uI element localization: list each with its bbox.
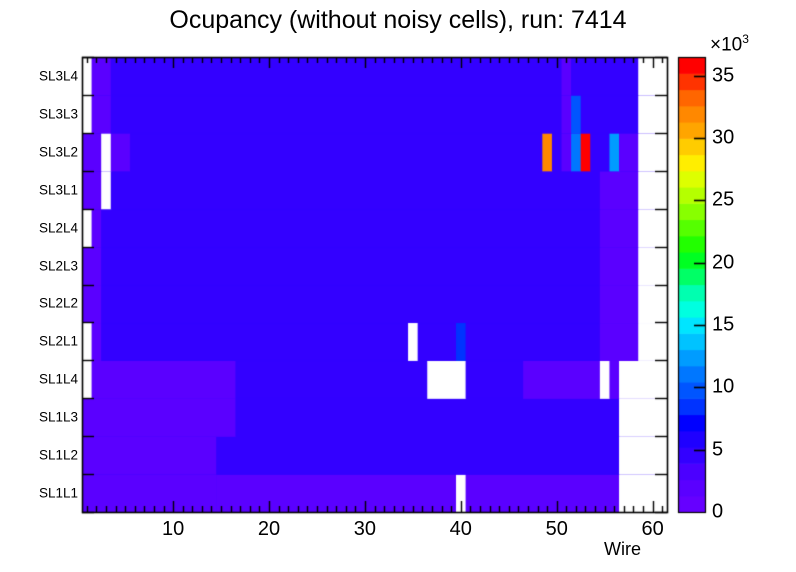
x-axis-tick-20: 20 xyxy=(258,518,280,541)
y-axis-label-sl1l4: SL1L4 xyxy=(20,372,78,387)
occupancy-heatmap xyxy=(0,0,796,572)
y-axis-label-sl1l1: SL1L1 xyxy=(20,486,78,501)
y-axis-label-sl3l3: SL3L3 xyxy=(20,106,78,121)
y-axis-label-sl3l1: SL3L1 xyxy=(20,182,78,197)
y-axis-label-sl1l3: SL1L3 xyxy=(20,410,78,425)
colorbar-multiplier-exponent: 3 xyxy=(742,32,749,46)
y-axis-label-sl2l3: SL2L3 xyxy=(20,258,78,273)
y-axis-labels: SL1L1SL1L2SL1L3SL1L4SL2L1SL2L2SL2L3SL2L4… xyxy=(14,0,78,572)
colorbar-tick-5: 5 xyxy=(712,438,723,461)
colorbar-multiplier: ×103 xyxy=(710,32,749,56)
y-axis-label-sl2l4: SL2L4 xyxy=(20,220,78,235)
y-axis-label-sl2l2: SL2L2 xyxy=(20,296,78,311)
x-axis-labels: 102030405060 xyxy=(0,518,796,544)
y-axis-label-sl3l4: SL3L4 xyxy=(20,68,78,83)
colorbar-tick-30: 30 xyxy=(712,127,734,150)
x-axis-tick-10: 10 xyxy=(162,518,184,541)
colorbar-tick-20: 20 xyxy=(712,251,734,274)
colorbar-tick-25: 25 xyxy=(712,189,734,212)
y-axis-label-sl3l2: SL3L2 xyxy=(20,144,78,159)
root-canvas-panel: Ocupancy (without noisy cells), run: 741… xyxy=(0,0,796,572)
colorbar-tick-0: 0 xyxy=(712,501,723,524)
x-axis-tick-60: 60 xyxy=(641,518,663,541)
y-axis-label-sl1l2: SL1L2 xyxy=(20,448,78,463)
x-axis-tick-50: 50 xyxy=(546,518,568,541)
colorbar-tick-10: 10 xyxy=(712,376,734,399)
colorbar-tick-35: 35 xyxy=(712,64,734,87)
x-axis-title: Wire xyxy=(604,539,641,560)
colorbar-tick-15: 15 xyxy=(712,314,734,337)
colorbar-multiplier-base: ×10 xyxy=(710,34,742,55)
colorbar-labels: 05101520253035 xyxy=(712,0,796,572)
y-axis-label-sl2l1: SL2L1 xyxy=(20,334,78,349)
x-axis-tick-30: 30 xyxy=(354,518,376,541)
x-axis-tick-40: 40 xyxy=(450,518,472,541)
